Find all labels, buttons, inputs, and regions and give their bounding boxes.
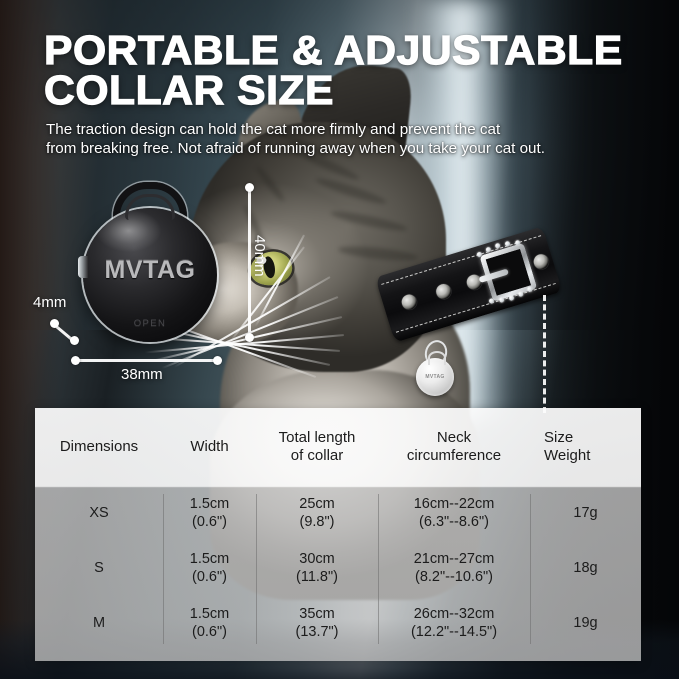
table-row: XS 1.5cm (0.6") 25cm (9.8") 16cm--22cm (… bbox=[35, 486, 641, 541]
cell-width: 1.5cm (0.6") bbox=[163, 606, 256, 641]
cell-total-length: 35cm (13.7") bbox=[256, 606, 378, 641]
dimension-dot-height-bottom bbox=[245, 333, 254, 342]
cell-neck-circumference: 16cm--22cm (6.3"--8.6") bbox=[378, 496, 530, 531]
table-row: S 1.5cm (0.6") 30cm (11.8") 21cm--27cm (… bbox=[35, 541, 641, 596]
cell-width: 1.5cm (0.6") bbox=[163, 551, 256, 586]
cell-total-length: 30cm (11.8") bbox=[256, 551, 378, 586]
cell-size: XS bbox=[35, 505, 163, 523]
product-infographic: MVTAG PORTABLE & ADJUSTABLE COLLAR SIZE … bbox=[0, 0, 679, 679]
column-header-size-weight: Size Weight bbox=[530, 429, 641, 466]
page-subtitle-line-1: The traction design can hold the cat mor… bbox=[46, 120, 646, 139]
column-header-neck-circumference: Neck circumference bbox=[378, 429, 530, 466]
device-brand-label: MVTAG bbox=[75, 256, 225, 285]
dimension-dot-width-left bbox=[71, 356, 80, 365]
page-subtitle-line-2: from breaking free. Not afraid of runnin… bbox=[46, 139, 646, 158]
hanging-mvtag-label: MVTAG bbox=[425, 374, 444, 380]
page-title-line-1: PORTABLE & ADJUSTABLE bbox=[44, 30, 595, 70]
dimension-label-height: 40mm bbox=[251, 235, 268, 277]
dimension-line-width bbox=[76, 359, 218, 362]
column-header-total-length: Total length of collar bbox=[256, 429, 378, 466]
cell-total-length: 25cm (9.8") bbox=[256, 496, 378, 531]
column-header-width: Width bbox=[163, 438, 256, 456]
cell-weight: 17g bbox=[530, 505, 641, 523]
dimension-label-width: 38mm bbox=[121, 366, 163, 383]
mvtag-device: MVTAG OPEN bbox=[75, 182, 225, 357]
cell-size: M bbox=[35, 615, 163, 633]
cell-neck-circumference: 21cm--27cm (8.2"--10.6") bbox=[378, 551, 530, 586]
device-open-label: OPEN bbox=[75, 318, 225, 329]
cell-size: S bbox=[35, 560, 163, 578]
collar-guide-dashed-line bbox=[543, 295, 546, 413]
cell-weight: 19g bbox=[530, 615, 641, 633]
dimension-dot-width-right bbox=[213, 356, 222, 365]
column-header-dimensions: Dimensions bbox=[35, 438, 163, 456]
dimension-dot-height-top bbox=[245, 183, 254, 192]
size-table: Dimensions Width Total length of collar … bbox=[35, 408, 641, 661]
table-row: M 1.5cm (0.6") 35cm (13.7") 26cm--32cm (… bbox=[35, 596, 641, 651]
page-title: PORTABLE & ADJUSTABLE COLLAR SIZE bbox=[44, 30, 595, 110]
size-table-body: XS 1.5cm (0.6") 25cm (9.8") 16cm--22cm (… bbox=[35, 486, 641, 661]
dimension-label-thickness: 4mm bbox=[33, 294, 66, 311]
dimension-dot-thickness-top bbox=[50, 319, 59, 328]
cell-weight: 18g bbox=[530, 560, 641, 578]
cell-width: 1.5cm (0.6") bbox=[163, 496, 256, 531]
page-title-line-2: COLLAR SIZE bbox=[44, 70, 595, 110]
size-table-header-row: Dimensions Width Total length of collar … bbox=[35, 408, 641, 486]
dimension-dot-thickness-bottom bbox=[70, 336, 79, 345]
hanging-mvtag: MVTAG bbox=[416, 358, 454, 396]
cell-neck-circumference: 26cm--32cm (12.2"--14.5") bbox=[378, 606, 530, 641]
page-subtitle: The traction design can hold the cat mor… bbox=[46, 120, 646, 159]
